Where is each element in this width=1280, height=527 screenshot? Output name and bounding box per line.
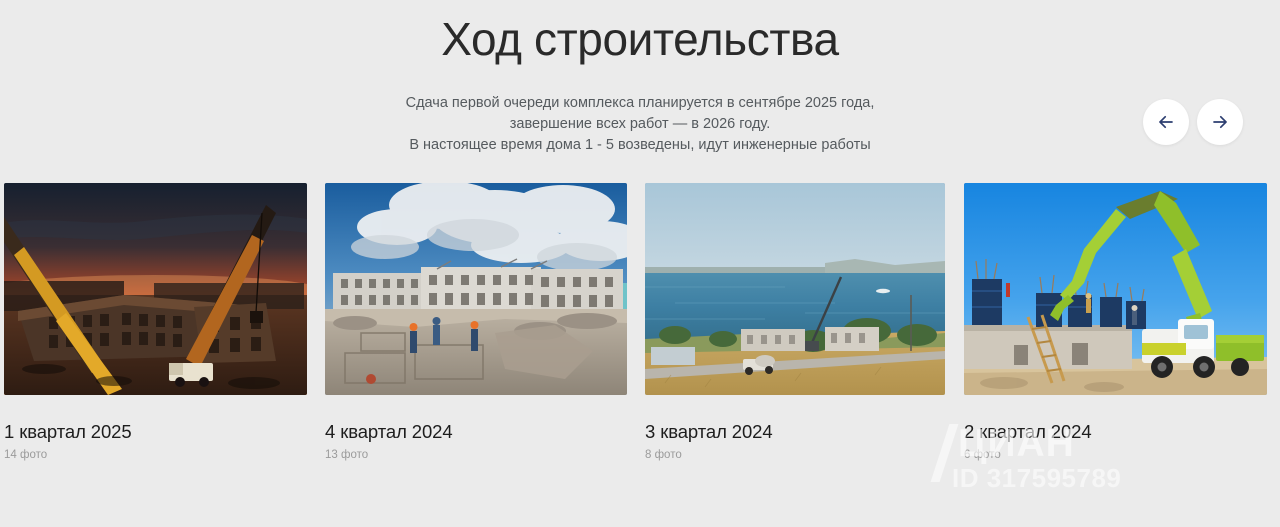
gallery-card[interactable]: 2 квартал 2024 6 фото [964, 183, 1267, 462]
description-line-1: Сдача первой очереди комплекса планирует… [0, 93, 1280, 114]
card-thumbnail[interactable] [645, 183, 945, 395]
card-title: 3 квартал 2024 [645, 421, 945, 443]
card-thumbnail[interactable] [325, 183, 627, 395]
carousel-next-button[interactable] [1197, 99, 1243, 145]
arrow-left-icon [1156, 112, 1176, 132]
carousel-nav [1143, 99, 1243, 145]
description-line-2: завершение всех работ — в 2026 году. [0, 114, 1280, 135]
card-photo-count: 6 фото [964, 448, 1267, 462]
page-title: Ход строительства [0, 14, 1280, 65]
carousel-prev-button[interactable] [1143, 99, 1189, 145]
card-thumbnail[interactable] [4, 183, 307, 395]
construction-progress-section: Ход строительства Сдача первой очереди к… [0, 0, 1280, 527]
section-description: Сдача первой очереди комплекса планирует… [0, 93, 1280, 156]
arrow-right-icon [1210, 112, 1230, 132]
description-line-3: В настоящее время дома 1 - 5 возведены, … [0, 135, 1280, 156]
card-thumbnail[interactable] [964, 183, 1267, 395]
card-photo-count: 8 фото [645, 448, 945, 462]
gallery-card[interactable]: 3 квартал 2024 8 фото [645, 183, 945, 462]
watermark-id: ID 317595789 [952, 463, 1121, 494]
card-title: 1 квартал 2025 [4, 421, 307, 443]
card-photo-count: 14 фото [4, 448, 307, 462]
gallery-card[interactable]: 4 квартал 2024 13 фото [325, 183, 627, 462]
gallery-card[interactable]: 1 квартал 2025 14 фото [4, 183, 307, 462]
card-photo-count: 13 фото [325, 448, 627, 462]
card-title: 4 квартал 2024 [325, 421, 627, 443]
card-title: 2 квартал 2024 [964, 421, 1267, 443]
